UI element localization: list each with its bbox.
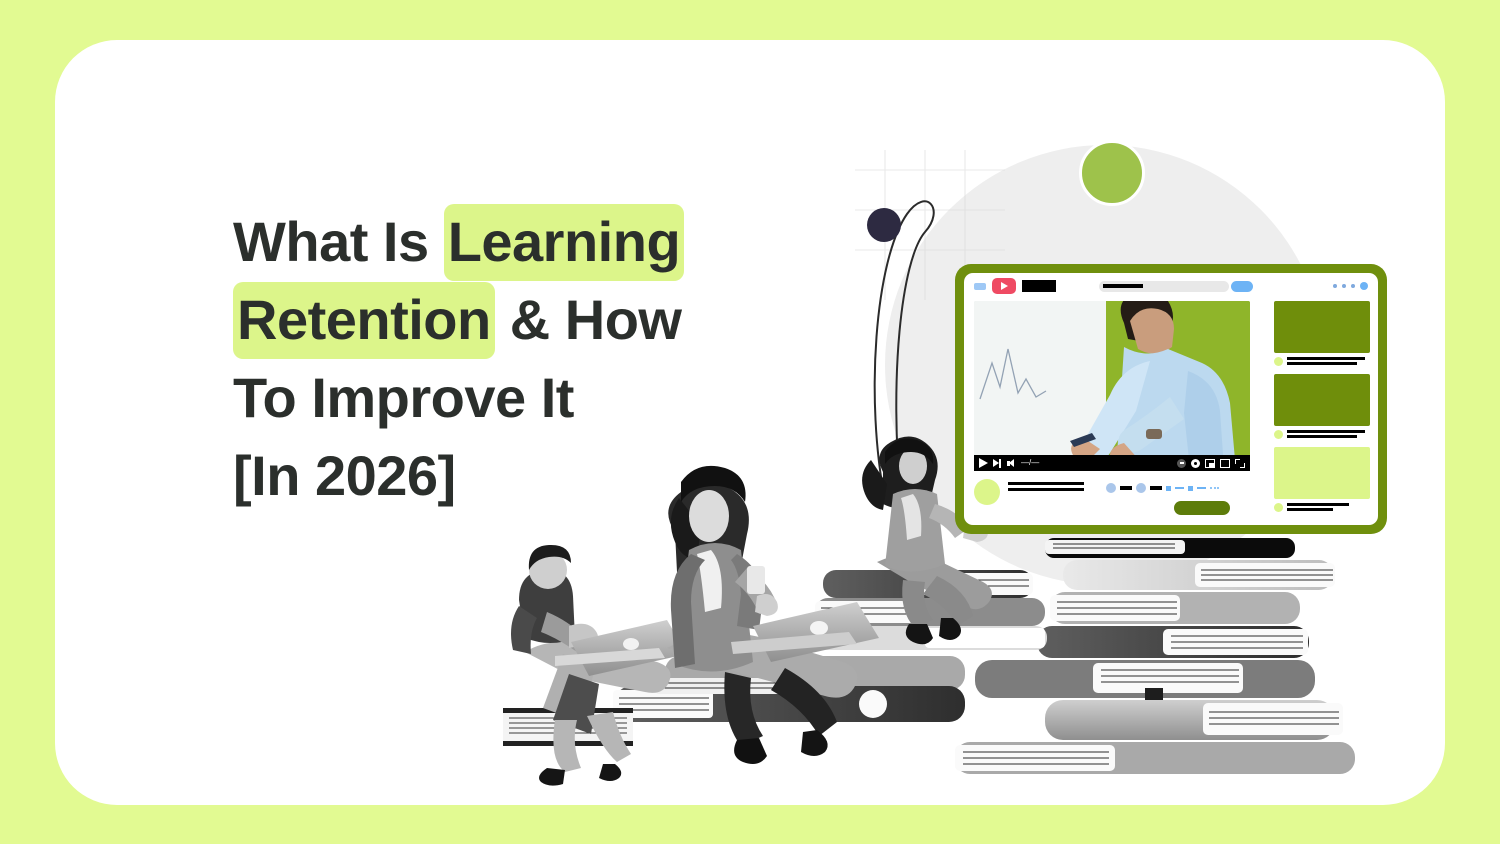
miniplayer-icon[interactable] xyxy=(1205,459,1215,468)
list-item[interactable] xyxy=(1274,301,1370,367)
title-highlight-learning: Learning xyxy=(444,204,684,281)
channel-avatar[interactable] xyxy=(974,479,1000,505)
content-card: What Is Learning Retention & How To Impr… xyxy=(55,40,1445,805)
title-highlight-retention: Retention xyxy=(233,282,495,359)
player-topbar xyxy=(964,273,1378,299)
figure-man-with-laptop xyxy=(511,545,687,786)
thumbnail[interactable] xyxy=(1274,301,1370,353)
list-item-title xyxy=(1287,357,1365,367)
play-icon[interactable] xyxy=(979,458,988,468)
thumbnail[interactable] xyxy=(1274,374,1370,426)
meta-more-icon[interactable] xyxy=(1210,487,1219,489)
title-line-2: Retention & How xyxy=(233,281,753,359)
list-item-title xyxy=(1287,503,1349,513)
search-input[interactable] xyxy=(1099,281,1229,292)
avatar xyxy=(1274,503,1283,512)
presenter-at-whiteboard xyxy=(974,301,1250,471)
player-inner: —/— xyxy=(964,273,1378,525)
poster-canvas: What Is Learning Retention & How To Impr… xyxy=(0,0,1500,844)
video-controls[interactable]: —/— xyxy=(974,455,1250,471)
share-icon[interactable] xyxy=(1136,483,1146,493)
hamburger-menu-icon[interactable] xyxy=(974,283,986,290)
volume-icon[interactable] xyxy=(1007,459,1016,468)
save-icon[interactable] xyxy=(1166,486,1171,491)
like-icon[interactable] xyxy=(1106,483,1116,493)
list-item-title xyxy=(1287,430,1365,440)
search-bar[interactable] xyxy=(1099,281,1253,292)
closed-captions-icon[interactable] xyxy=(1177,459,1186,468)
list-item[interactable] xyxy=(1274,447,1370,513)
video-viewport[interactable] xyxy=(974,301,1250,471)
next-track-icon[interactable] xyxy=(993,459,1002,468)
video-player-mockup[interactable]: —/— xyxy=(955,264,1387,534)
theater-mode-icon[interactable] xyxy=(1220,459,1230,468)
gear-icon[interactable] xyxy=(1191,459,1200,468)
subscribe-button[interactable] xyxy=(1174,501,1230,515)
title-line-1: What Is Learning xyxy=(233,203,753,281)
list-item[interactable] xyxy=(1274,374,1370,440)
avatar xyxy=(1274,357,1283,366)
green-circle-decoration xyxy=(1079,140,1145,206)
recommended-list xyxy=(1274,301,1370,520)
search-button[interactable] xyxy=(1231,281,1253,292)
more-options-icon[interactable] xyxy=(1333,282,1368,290)
title-line-1-plain: What Is xyxy=(233,210,444,273)
youtube-play-icon[interactable] xyxy=(992,278,1016,294)
video-title-placeholder xyxy=(1008,479,1084,494)
time-label: —/— xyxy=(1021,459,1039,467)
clip-icon[interactable] xyxy=(1188,486,1193,491)
logo-bar xyxy=(1022,280,1056,292)
navy-dot-decoration xyxy=(867,208,901,242)
thumbnail[interactable] xyxy=(1274,447,1370,499)
title-line-2-plain: & How xyxy=(495,288,682,351)
video-actions[interactable] xyxy=(1106,479,1219,493)
fullscreen-icon[interactable] xyxy=(1235,459,1245,468)
avatar xyxy=(1274,430,1283,439)
